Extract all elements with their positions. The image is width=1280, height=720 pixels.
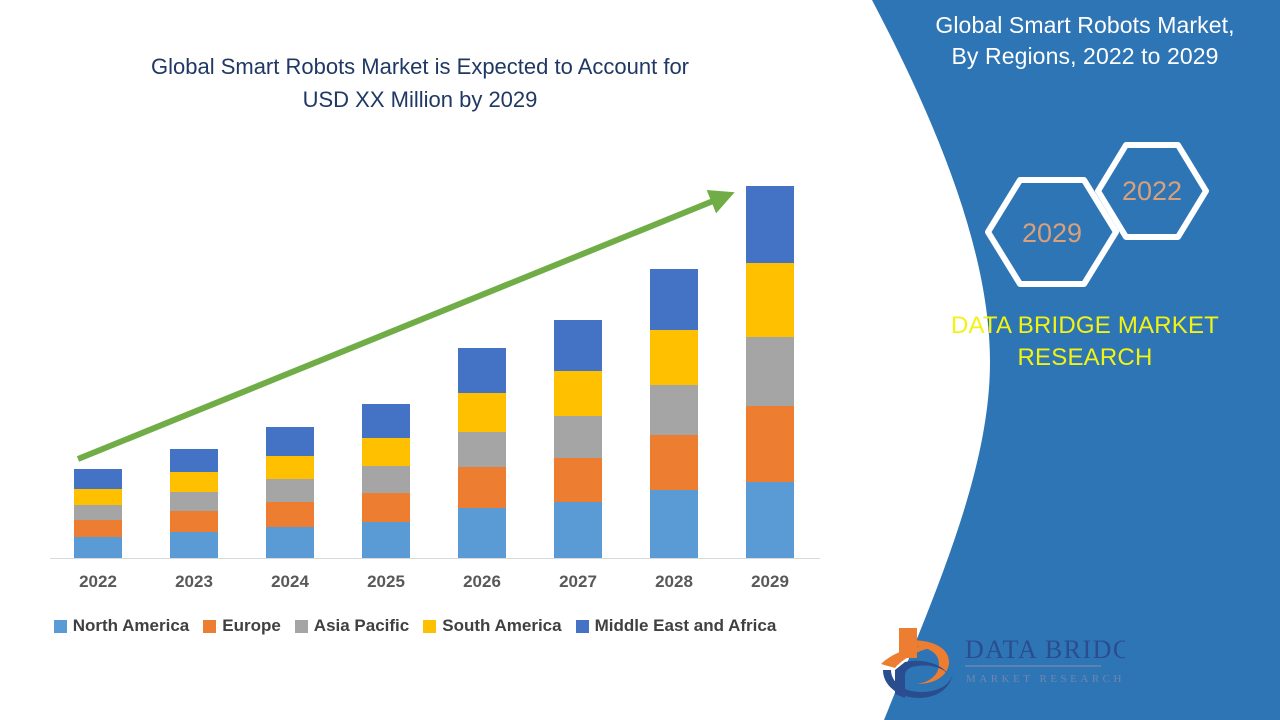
x-axis-tick-label: 2023 bbox=[146, 572, 242, 592]
bar-segment bbox=[266, 527, 314, 558]
bar-segment bbox=[170, 532, 218, 558]
legend-label: Middle East and Africa bbox=[595, 616, 777, 636]
bar-segment bbox=[362, 493, 410, 522]
legend-item[interactable]: South America bbox=[423, 616, 561, 636]
side-panel: Global Smart Robots Market, By Regions, … bbox=[840, 0, 1280, 720]
side-panel-title-line-1: Global Smart Robots Market, bbox=[900, 10, 1270, 41]
hexagon-badge-group: 2022 2029 bbox=[980, 140, 1210, 300]
bar-segment bbox=[554, 458, 602, 503]
bar-segment bbox=[554, 320, 602, 371]
brand-name-line-1: DATA BRIDGE MARKET bbox=[900, 310, 1270, 342]
bar-segment bbox=[458, 348, 506, 393]
bar-segment bbox=[362, 522, 410, 558]
logo-mark-icon bbox=[881, 628, 953, 698]
bar-segment bbox=[74, 469, 122, 489]
hexagon-2022-label: 2022 bbox=[1122, 176, 1182, 206]
x-axis-tick-label: 2029 bbox=[722, 572, 818, 592]
bar-segment bbox=[554, 416, 602, 458]
brand-name-line-2: RESEARCH bbox=[900, 342, 1270, 374]
bar-segment bbox=[458, 508, 506, 558]
bar-segment bbox=[74, 537, 122, 558]
bar-segment bbox=[74, 520, 122, 537]
bar-segment bbox=[170, 492, 218, 511]
logo-wordmark-line-2: MARKET RESEARCH bbox=[966, 673, 1125, 685]
legend-label: Europe bbox=[222, 616, 281, 636]
bar-segment bbox=[746, 337, 794, 406]
legend-item[interactable]: Middle East and Africa bbox=[576, 616, 777, 636]
stacked-bar-chart bbox=[0, 0, 850, 600]
bar-segment bbox=[74, 505, 122, 520]
side-panel-title: Global Smart Robots Market, By Regions, … bbox=[900, 10, 1270, 72]
data-bridge-logo: DATA BRIDGE MARKET RESEARCH bbox=[865, 610, 1125, 710]
legend-swatch-icon bbox=[576, 620, 589, 633]
bar-segment bbox=[266, 479, 314, 502]
side-panel-title-line-2: By Regions, 2022 to 2029 bbox=[900, 41, 1270, 72]
legend-label: South America bbox=[442, 616, 561, 636]
legend-swatch-icon bbox=[203, 620, 216, 633]
chart-legend: North AmericaEuropeAsia PacificSouth Ame… bbox=[0, 616, 830, 636]
bar-segment bbox=[458, 393, 506, 432]
bar-segment bbox=[650, 330, 698, 385]
legend-swatch-icon bbox=[423, 620, 436, 633]
bar-segment bbox=[458, 467, 506, 508]
logo-wordmark-line-1: DATA BRIDGE bbox=[965, 635, 1125, 664]
bar-segment bbox=[746, 406, 794, 483]
bar-segment bbox=[554, 371, 602, 416]
x-axis-line bbox=[50, 558, 820, 559]
brand-name: DATA BRIDGE MARKET RESEARCH bbox=[900, 310, 1270, 375]
bar-segment bbox=[650, 490, 698, 558]
bar-segment bbox=[650, 269, 698, 331]
chart-panel: Global Smart Robots Market is Expected t… bbox=[0, 0, 850, 720]
x-axis-tick-label: 2026 bbox=[434, 572, 530, 592]
bar-segment bbox=[650, 435, 698, 491]
bar-segment bbox=[266, 456, 314, 480]
legend-item[interactable]: North America bbox=[54, 616, 190, 636]
x-axis-tick-label: 2022 bbox=[50, 572, 146, 592]
bar-segment bbox=[554, 502, 602, 558]
bar-segment bbox=[266, 502, 314, 527]
x-axis-tick-label: 2024 bbox=[242, 572, 338, 592]
legend-label: North America bbox=[73, 616, 190, 636]
legend-swatch-icon bbox=[54, 620, 67, 633]
x-axis-tick-label: 2028 bbox=[626, 572, 722, 592]
bar-segment bbox=[266, 427, 314, 456]
bar-segment bbox=[746, 186, 794, 263]
bar-segment bbox=[746, 482, 794, 558]
bar-segment bbox=[170, 511, 218, 532]
x-axis-tick-label: 2027 bbox=[530, 572, 626, 592]
bar-segment bbox=[170, 449, 218, 473]
x-axis-labels: 20222023202420252026202720282029 bbox=[0, 572, 830, 598]
bar-segment bbox=[74, 489, 122, 505]
bar-segment bbox=[362, 466, 410, 493]
bar-segment bbox=[362, 404, 410, 438]
legend-item[interactable]: Europe bbox=[203, 616, 281, 636]
x-axis-tick-label: 2025 bbox=[338, 572, 434, 592]
bar-segment bbox=[458, 432, 506, 468]
bar-segment bbox=[746, 263, 794, 338]
bar-segment bbox=[170, 472, 218, 492]
hexagon-2029-label: 2029 bbox=[1022, 218, 1082, 248]
legend-swatch-icon bbox=[295, 620, 308, 633]
legend-item[interactable]: Asia Pacific bbox=[295, 616, 409, 636]
bar-segment bbox=[362, 438, 410, 467]
bar-segment bbox=[650, 385, 698, 435]
legend-label: Asia Pacific bbox=[314, 616, 409, 636]
